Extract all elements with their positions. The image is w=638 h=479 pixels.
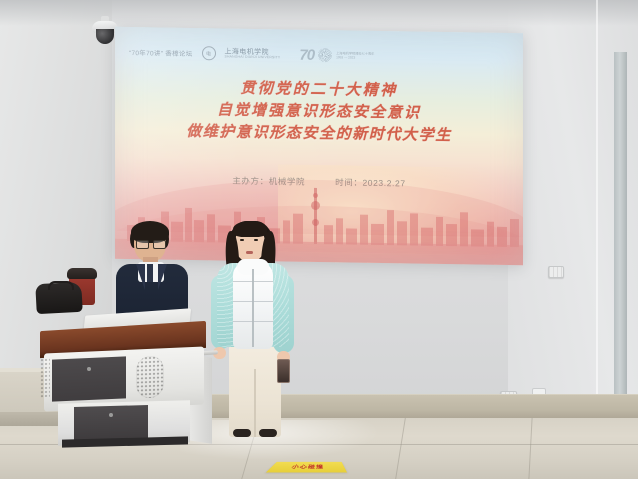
lectern-speaker-grille-right [136,355,164,398]
wall-corner-edge [596,0,598,420]
anniversary-number: 70 [299,47,314,62]
bag-strap [48,281,74,290]
anniversary-rays-icon [318,48,332,62]
woman-fringe [233,221,267,237]
floor-sticker-text: 小心碰撞 [290,464,324,470]
thermos-cap [67,268,97,279]
person-woman-speaker [207,219,301,437]
slide-header-logos: “70年70讲” 香樟论坛 电 上海电机学院 SHANGHAI DIANJI U… [115,41,523,69]
anniversary-70-logo: 70 上海电机学院建校七十周年 1953 — 2023 [299,47,374,63]
classroom-photo: “70年70讲” 香樟论坛 电 上海电机学院 SHANGHAI DIANJI U… [0,0,638,479]
corner-post [614,52,627,420]
glasses-icon [153,240,166,249]
lectern [40,312,220,444]
university-name-logo: 上海电机学院 SHANGHAI DIANJI UNIVERSITY [225,48,281,59]
lectern-speaker-grille-left [40,358,50,398]
university-name-en: SHANGHAI DIANJI UNIVERSITY [225,55,281,59]
lectern-front-panel [52,356,126,401]
woman-vest-zipper [252,269,254,347]
floor-warning-sticker: 小心碰撞 [266,462,347,473]
lectern-base-panel [74,405,148,441]
forum-logo-text: “70年70讲” 香樟论坛 [129,47,193,58]
man-tie [147,264,153,282]
woman-shoe [259,429,277,437]
university-seal-icon: 电 [202,46,216,60]
wall-switch-upper[interactable] [548,266,564,278]
slide-title-block: 贯彻党的二十大精神 自觉增强意识形态安全意识 做维护意识形态安全的新时代大学生 [115,77,523,148]
glasses-icon [136,240,149,249]
anniversary-caption: 上海电机学院建校七十周年 1953 — 2023 [336,51,374,60]
woman-mouth [246,251,253,254]
woman-shoe [233,429,251,437]
smartphone-icon [277,359,290,383]
anniversary-caption-line2: 1953 — 2023 [336,55,374,60]
